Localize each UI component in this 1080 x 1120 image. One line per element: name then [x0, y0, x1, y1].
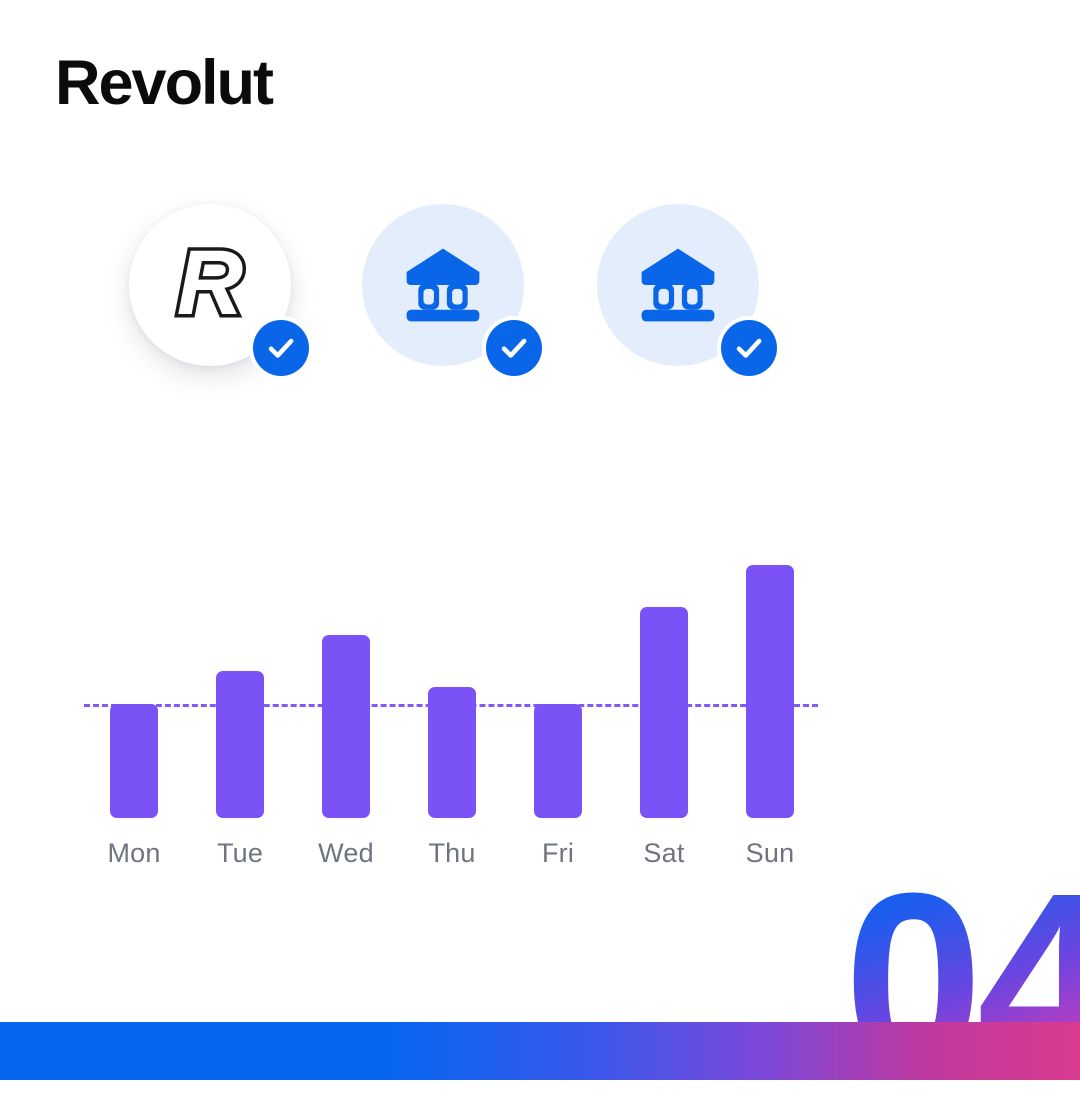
- account-item-revolut[interactable]: R: [129, 204, 291, 366]
- check-icon: [498, 332, 530, 364]
- bar-column[interactable]: [322, 540, 370, 818]
- bank-icon: [401, 246, 485, 324]
- day-label-wed: Wed: [286, 838, 406, 869]
- bar-column[interactable]: [428, 540, 476, 818]
- bar-column[interactable]: [534, 540, 582, 818]
- bank-icon: [636, 246, 720, 324]
- check-icon: [265, 332, 297, 364]
- accounts-row: R: [0, 200, 1080, 390]
- check-icon: [733, 332, 765, 364]
- day-label-sun: Sun: [710, 838, 830, 869]
- day-label-mon: Mon: [74, 838, 194, 869]
- bar-sat[interactable]: [640, 607, 688, 818]
- bar-wed[interactable]: [322, 635, 370, 818]
- day-label-fri: Fri: [498, 838, 618, 869]
- chart-plot-area: [84, 540, 824, 818]
- revolut-r-icon: R: [177, 237, 243, 329]
- bar-column[interactable]: [110, 540, 158, 818]
- bar-tue[interactable]: [216, 671, 264, 818]
- bar-mon[interactable]: [110, 704, 158, 818]
- weekly-bar-chart: MonTueWedThuFriSatSun: [0, 540, 1080, 890]
- verified-badge-circle: [486, 320, 542, 376]
- verified-badge-circle: [721, 320, 777, 376]
- bar-column[interactable]: [640, 540, 688, 818]
- account-item-bank-1[interactable]: [362, 204, 524, 366]
- brand-logo: Revolut: [55, 52, 272, 115]
- bottom-gradient-bar: [0, 1022, 1080, 1080]
- bar-column[interactable]: [216, 540, 264, 818]
- bar-column[interactable]: [746, 540, 794, 818]
- bar-fri[interactable]: [534, 704, 582, 818]
- day-label-sat: Sat: [604, 838, 724, 869]
- bar-sun[interactable]: [746, 565, 794, 818]
- verified-badge-circle: [253, 320, 309, 376]
- average-reference-line: [84, 704, 818, 707]
- verified-badge: [249, 316, 313, 380]
- day-label-thu: Thu: [392, 838, 512, 869]
- verified-badge: [482, 316, 546, 380]
- account-item-bank-2[interactable]: [597, 204, 759, 366]
- verified-badge: [717, 316, 781, 380]
- day-label-tue: Tue: [180, 838, 300, 869]
